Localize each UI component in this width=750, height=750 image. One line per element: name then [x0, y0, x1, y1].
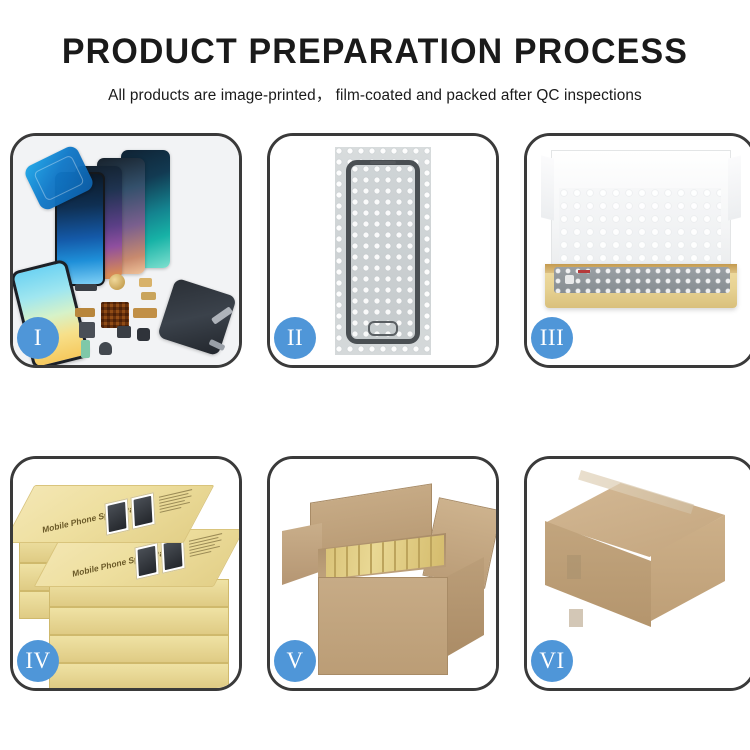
- earpiece-slot: [370, 161, 396, 164]
- spare-part: [99, 342, 112, 355]
- box-print-phone-image: [134, 542, 159, 580]
- page-title: PRODUCT PREPARATION PROCESS: [11, 34, 739, 71]
- wrapped-phone-screen: [346, 160, 420, 344]
- wrapped-screen-in-box: [554, 267, 730, 293]
- screen-marking: [578, 270, 590, 273]
- infographic-page: PRODUCT PREPARATION PROCESS All products…: [0, 0, 750, 750]
- bubble-wrap-sheet: [335, 147, 431, 355]
- spare-part: [137, 328, 150, 341]
- step-badge-4: IV: [17, 640, 59, 682]
- carton-left-flap: [282, 523, 322, 585]
- yellow-inner-box: [545, 264, 737, 308]
- step-panel-5: V: [267, 456, 499, 691]
- spare-part: [101, 302, 129, 328]
- process-step-grid: I II: [10, 133, 740, 691]
- screen-label: [565, 275, 574, 284]
- header: PRODUCT PREPARATION PROCESS All products…: [0, 0, 750, 105]
- stacked-box: [49, 635, 227, 661]
- spare-part: [117, 326, 131, 338]
- step-panel-6: VI: [524, 456, 750, 691]
- step-badge-2: II: [274, 317, 316, 359]
- home-button: [368, 321, 398, 336]
- step-badge-5: V: [274, 640, 316, 682]
- spare-part: [81, 340, 90, 358]
- spare-part: [75, 284, 97, 291]
- page-subtitle: All products are image-printed， film-coa…: [4, 83, 747, 105]
- packing-tape-edge: [567, 555, 581, 579]
- printed-box-top: Mobile Phone Spare Parts: [19, 485, 197, 541]
- stacked-box: [49, 663, 227, 687]
- spare-part: [109, 274, 125, 290]
- step-panel-4: Mobile Phone Spare Parts Mobile Phone Sp…: [10, 456, 242, 691]
- box-front: [49, 607, 229, 635]
- box-print-phone-image: [130, 492, 155, 530]
- spare-part: [75, 308, 95, 317]
- foam-padding: [559, 188, 721, 270]
- step-badge-3: III: [531, 317, 573, 359]
- step-panel-3: III: [524, 133, 750, 368]
- spare-part: [133, 308, 157, 318]
- spare-part: [141, 292, 156, 300]
- step-panel-1: I: [10, 133, 242, 368]
- step-badge-1: I: [17, 317, 59, 359]
- spare-part: [139, 278, 152, 287]
- box-print-phone-image: [104, 498, 129, 536]
- stacked-box: [49, 607, 227, 633]
- step-panel-2: II: [267, 133, 499, 368]
- packing-tape-edge: [569, 609, 583, 627]
- box-front: [49, 663, 229, 688]
- carton-front-face: [318, 577, 448, 675]
- box-front: [49, 635, 229, 663]
- spare-part: [79, 322, 95, 338]
- step-badge-6: VI: [531, 640, 573, 682]
